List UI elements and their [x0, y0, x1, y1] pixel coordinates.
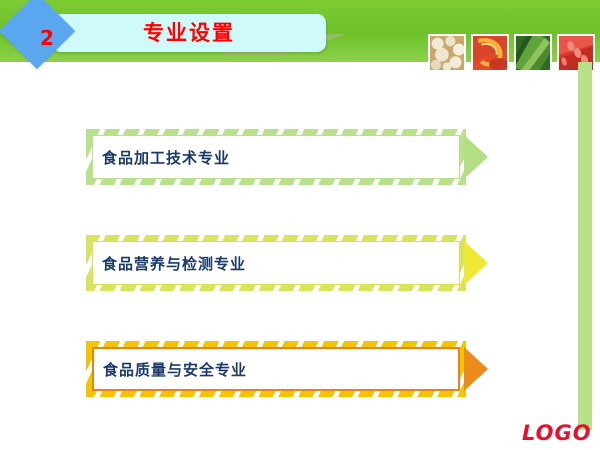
program-bar-3-arrow-icon	[464, 347, 488, 391]
program-bar-1-inner: 食品加工技术专业	[92, 135, 460, 179]
program-bar-1-arrow-icon	[464, 135, 488, 179]
right-accent-strip	[578, 62, 592, 430]
program-bar-1[interactable]: 食品加工技术专业	[86, 129, 466, 185]
cucumber-photo	[514, 34, 552, 72]
program-bar-2-inner: 食品营养与检测专业	[92, 241, 460, 285]
slide-canvas: 专业设置 2	[0, 0, 600, 450]
citrus-photo	[471, 34, 509, 72]
page-title: 专业设置	[143, 16, 323, 50]
photo-thumbnail-strip	[428, 34, 595, 72]
section-number-label: 2	[10, 5, 84, 71]
program-bar-3-label: 食品质量与安全专业	[103, 349, 247, 389]
program-bar-2-arrow-icon	[464, 241, 488, 285]
program-bar-2[interactable]: 食品营养与检测专业	[86, 235, 466, 291]
garlic-photo	[428, 34, 466, 72]
program-bar-1-label: 食品加工技术专业	[102, 136, 230, 178]
program-bar-3[interactable]: 食品质量与安全专业	[86, 341, 466, 397]
program-bar-3-inner: 食品质量与安全专业	[92, 347, 460, 391]
program-bar-2-label: 食品营养与检测专业	[102, 242, 246, 284]
logo: LOGO	[522, 421, 592, 445]
